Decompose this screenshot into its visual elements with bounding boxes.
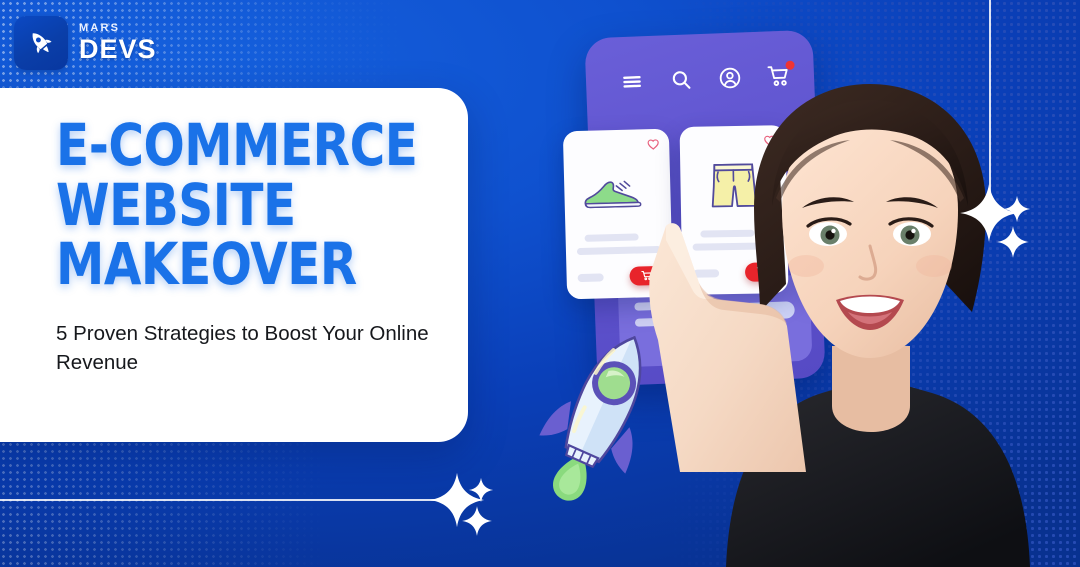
headline-line-2: WEBSITE	[56, 178, 408, 234]
sparkle-icon	[1003, 195, 1031, 223]
heart-icon[interactable]	[646, 137, 660, 151]
sparkle-icon	[461, 505, 493, 537]
price-placeholder	[578, 273, 604, 282]
brand-name-top: MARS	[79, 23, 157, 34]
brand-wordmark: MARS DEVS	[79, 23, 157, 63]
pointing-hand	[636, 222, 806, 472]
sparkle-icon	[468, 477, 494, 503]
brand-name-bottom: DEVS	[79, 36, 157, 63]
brand-logo[interactable]: MARS DEVS	[14, 16, 157, 70]
sparkle-icon	[996, 225, 1030, 259]
subtitle: 5 Proven Strategies to Boost Your Online…	[56, 319, 434, 378]
hamburger-menu-icon[interactable]	[618, 68, 645, 95]
page-title: E-COMMERCE WEBSITE MAKEOVER	[56, 118, 408, 293]
decorative-vertical-line	[989, 0, 991, 197]
headline-line-1: E-COMMERCE	[56, 118, 408, 174]
rocket-icon	[14, 16, 68, 70]
headline-card: E-COMMERCE WEBSITE MAKEOVER 5 Proven Str…	[0, 88, 468, 442]
decorative-horizontal-line	[0, 499, 443, 501]
marketing-banner: MARS DEVS	[0, 0, 1080, 567]
headline-line-3: MAKEOVER	[56, 237, 408, 293]
sneaker-icon	[564, 159, 672, 228]
